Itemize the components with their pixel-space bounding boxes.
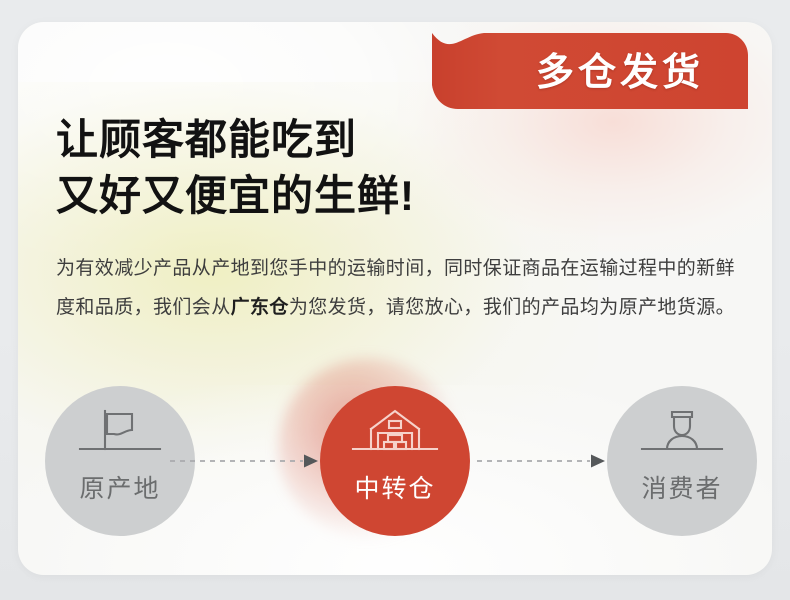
flow-node-transit-label: 中转仓 [354, 469, 435, 505]
description-paragraph: 为有效减少产品从产地到您手中的运输时间，同时保证商品在运输过程中的新鲜度和品质，… [56, 250, 746, 328]
card-highlight-pink [398, 22, 772, 252]
warehouse-highlight: 广东仓 [231, 297, 289, 318]
flow-connector-1 [170, 454, 322, 468]
description-part-2: 为您发货，请您放心，我们的产品均为原产地货源。 [289, 297, 735, 318]
promo-banner-page: 多仓发货 让顾客都能吃到 又好又便宜的生鲜! 为有效减少产品从产地到您手中的运输… [0, 0, 790, 600]
warehouse-icon [349, 404, 441, 460]
headline-line-1: 让顾客都能吃到 [56, 112, 415, 168]
arrow-head-icon [591, 455, 605, 468]
flag-icon [74, 404, 166, 460]
flow-node-transit: 中转仓 [320, 386, 470, 536]
headline-line-2: 又好又便宜的生鲜! [56, 168, 415, 224]
flow-node-origin-label: 原产地 [79, 469, 160, 505]
flow-node-consumer: 消费者 [607, 386, 757, 536]
logistics-flow: 原产地 [0, 386, 790, 546]
arrow-head-icon [304, 455, 318, 468]
flow-connector-2 [477, 454, 609, 468]
page-title: 让顾客都能吃到 又好又便宜的生鲜! [56, 112, 415, 225]
person-icon [636, 404, 728, 460]
flow-node-consumer-label: 消费者 [641, 469, 722, 505]
